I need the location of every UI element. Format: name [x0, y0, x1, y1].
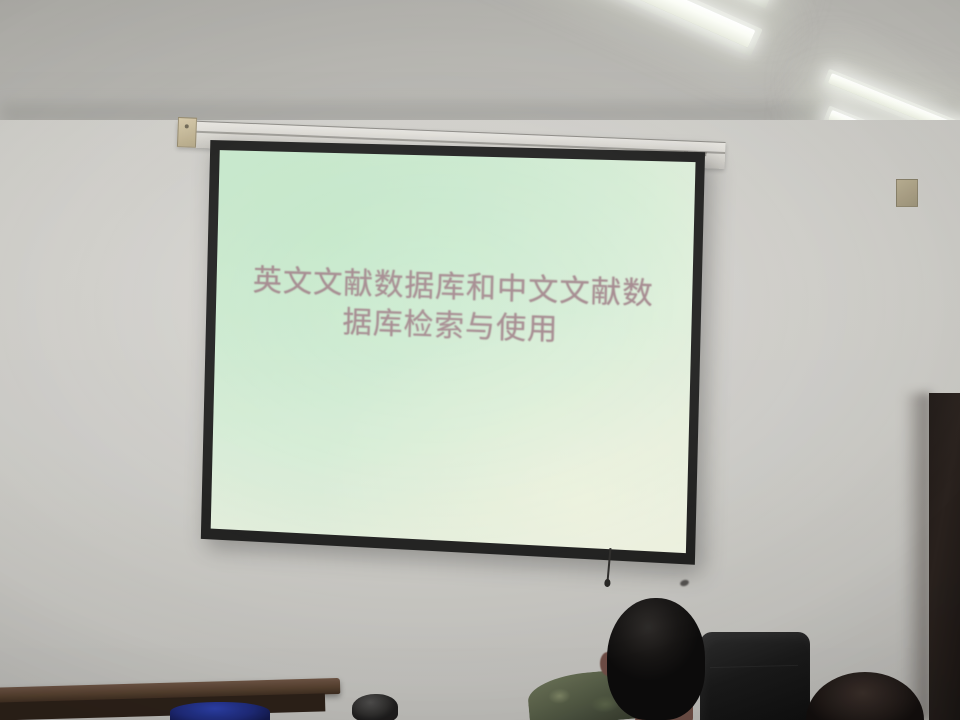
blue-object — [170, 702, 270, 720]
classroom-photo-scene: Redleaf 英文文献数据库和中文文献数 据库检索与使用 — [0, 0, 960, 720]
screen-mount-bracket — [177, 117, 197, 148]
screw-icon — [185, 124, 189, 128]
person-head-front — [607, 598, 705, 720]
chair-seam — [710, 665, 798, 668]
slide-title: 英文文献数据库和中文文献数 据库检索与使用 — [215, 260, 692, 355]
projected-slide-surface: 英文文献数据库和中文文献数 据库检索与使用 — [211, 150, 696, 553]
wall-outlet-plate — [896, 179, 918, 207]
projection-screen-frame: 英文文献数据库和中文文献数 据库检索与使用 — [201, 140, 705, 565]
office-chair — [700, 632, 810, 720]
dark-object — [352, 694, 398, 720]
cabinet-shadow — [903, 393, 931, 720]
dark-cabinet — [929, 393, 960, 720]
